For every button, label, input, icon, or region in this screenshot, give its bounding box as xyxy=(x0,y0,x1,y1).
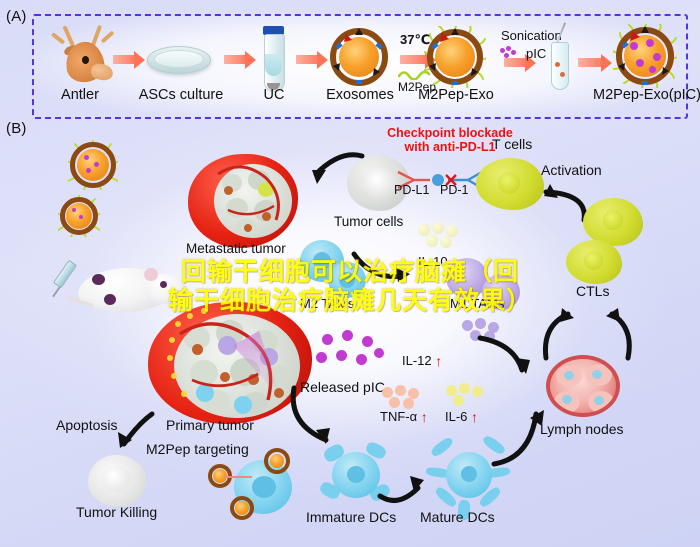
m2-tam-cell-icon xyxy=(328,262,366,298)
t-cells-label: T cells xyxy=(492,137,532,152)
free-exosome-small xyxy=(58,195,100,237)
free-exosome-large xyxy=(68,140,118,190)
syringe-icon xyxy=(53,260,77,289)
tube-liquid-icon xyxy=(265,54,282,76)
arrow-lymphnode-to-ctl-right xyxy=(592,300,636,360)
antler-left-branch-icon xyxy=(51,32,65,44)
exosome-pic-icon xyxy=(84,155,89,160)
pic-label: pIC xyxy=(526,46,546,61)
ctls-label: CTLs xyxy=(576,284,609,299)
released-pic-particles-icon xyxy=(316,330,388,378)
tumor-cells-label: Tumor cells xyxy=(334,215,403,230)
stage-asc-culture: ASCs culture xyxy=(126,88,236,103)
exosome-pic-icon xyxy=(86,168,91,173)
immature-dc-icon xyxy=(332,452,380,498)
metastatic-tumor-label: Metastatic tumor xyxy=(186,242,286,257)
il-6-cytokine-label: IL-6 ↑ xyxy=(445,408,478,424)
stage-caption-uc: UC xyxy=(248,88,300,103)
mouse-tumor-spot-icon xyxy=(92,274,105,285)
m2pep-pic-surface-proteins-icon xyxy=(613,24,677,88)
lymph-nodes-label: Lymph nodes xyxy=(540,422,624,437)
activation-label: Activation xyxy=(541,163,602,178)
tumor-killing-label: Tumor Killing xyxy=(76,505,157,520)
m2pep-exo-stage xyxy=(424,26,486,88)
tube-pic-dot-icon xyxy=(555,62,560,67)
petri-dish-inner-icon xyxy=(154,50,204,68)
panel-b-letter: (B) xyxy=(6,120,27,137)
il-10-name: IL-10 xyxy=(418,254,448,269)
mouse-eye-icon xyxy=(160,281,167,288)
arrow-mature-dc-to-lymphnode xyxy=(488,398,548,468)
ctl-nucleus-icon xyxy=(584,251,603,270)
exosome-stage xyxy=(330,28,388,86)
arrow-sonication-to-product xyxy=(578,58,602,67)
ctl-cell-icon xyxy=(583,198,643,246)
apoptotic-fragment-icon xyxy=(102,466,130,492)
arrow-immature-to-mature-dc xyxy=(378,470,430,506)
tnf-alpha-cytokine-label: TNF-α ↑ xyxy=(380,408,428,424)
asc-culture-stage xyxy=(147,46,213,76)
sonication-tube-icon xyxy=(551,42,569,90)
tumor-cell-cluster-icon xyxy=(362,168,398,200)
stage-caption-m2pep-exo-pic: M2Pep-Exo(pIC) xyxy=(562,88,700,103)
exosome-pic-icon xyxy=(72,208,76,212)
sonication-tube-stage xyxy=(548,24,572,92)
primary-tumor-label: Primary tumor xyxy=(166,418,254,433)
immature-dcs-label: Immature DCs xyxy=(306,510,396,525)
free-exosome-lumen-icon xyxy=(77,149,109,181)
targeting-exosome-icon xyxy=(230,496,254,520)
tnf-alpha-name: TNF-α xyxy=(380,409,417,424)
stage-caption-asc-culture: ASCs culture xyxy=(126,88,236,103)
stage-uc: UC xyxy=(248,88,300,103)
arrow-ctl-activation xyxy=(520,178,592,226)
deer-eye-icon xyxy=(82,56,89,64)
mouse-tumor-spot-icon xyxy=(104,294,116,305)
m2pep-targeting-group xyxy=(200,448,320,520)
tube-pic-dot-icon xyxy=(560,72,565,77)
arrow-antler-to-culture xyxy=(113,55,135,64)
exosome-surface-proteins-icon xyxy=(330,28,388,86)
exosome-pic-icon xyxy=(94,162,99,167)
uc-stage xyxy=(262,26,286,92)
ctl-cell-icon xyxy=(566,240,622,284)
sonication-probe-icon xyxy=(556,22,566,43)
m2pep-exo-pic-stage xyxy=(613,24,677,88)
stage-m2pep-exo-pic: M2Pep-Exo(pIC) xyxy=(562,88,700,103)
stage-caption-m2pep-exo: M2Pep-Exo xyxy=(404,88,508,103)
stage-caption-exosomes: Exosomes xyxy=(316,88,404,103)
stage-caption-antler: Antler xyxy=(40,88,120,103)
il-6-trend-arrow: ↑ xyxy=(471,409,478,425)
tnf-alpha-particles-icon xyxy=(382,385,426,409)
mature-dc-icon xyxy=(446,452,492,498)
il-12-name: IL-12 xyxy=(402,353,432,368)
il10-particles-icon xyxy=(418,222,466,248)
il-12-trend-arrow: ↑ xyxy=(435,353,442,369)
arrow-uc-to-exosomes xyxy=(296,55,318,64)
stage-exosomes: Exosomes xyxy=(316,88,404,103)
mature-dcs-label: Mature DCs xyxy=(420,510,495,525)
panel-a-letter: (A) xyxy=(6,8,27,25)
arrow-exosomes-to-m2pep xyxy=(400,55,426,64)
targeting-link-icon xyxy=(224,472,254,482)
pd-1-label: PD-1 xyxy=(440,184,468,198)
figure-canvas: (A) Antler ASCs culture UC xyxy=(0,0,700,547)
exosome-pic-icon xyxy=(79,215,83,219)
arrow-il12-to-lymphnode xyxy=(478,336,538,380)
tnf-alpha-trend-arrow: ↑ xyxy=(421,409,428,425)
antler-right-branch-icon xyxy=(101,30,115,43)
m1-tams-label: M1 TAMs xyxy=(450,297,504,311)
il-12-cytokine-label: IL-12 ↑ xyxy=(402,352,442,368)
arrow-culture-to-uc xyxy=(224,55,246,64)
ctl-nucleus-icon xyxy=(603,210,623,230)
stage-m2pep-exo: M2Pep-Exo xyxy=(404,88,508,103)
t-cell-nucleus-icon xyxy=(498,172,520,194)
pd-l1-label: PD-L1 xyxy=(394,184,429,198)
stage-antler: Antler xyxy=(40,88,120,103)
mouse-ear-icon xyxy=(144,268,158,281)
pic-cluster-icon xyxy=(500,46,524,60)
lymph-node-icon xyxy=(546,355,620,417)
il6-particles-icon xyxy=(446,383,490,407)
m2pep-exo-surface-proteins-icon xyxy=(424,26,486,88)
il-6-name: IL-6 xyxy=(445,409,467,424)
arrow-lymphnode-to-ctl-left xyxy=(540,300,584,360)
